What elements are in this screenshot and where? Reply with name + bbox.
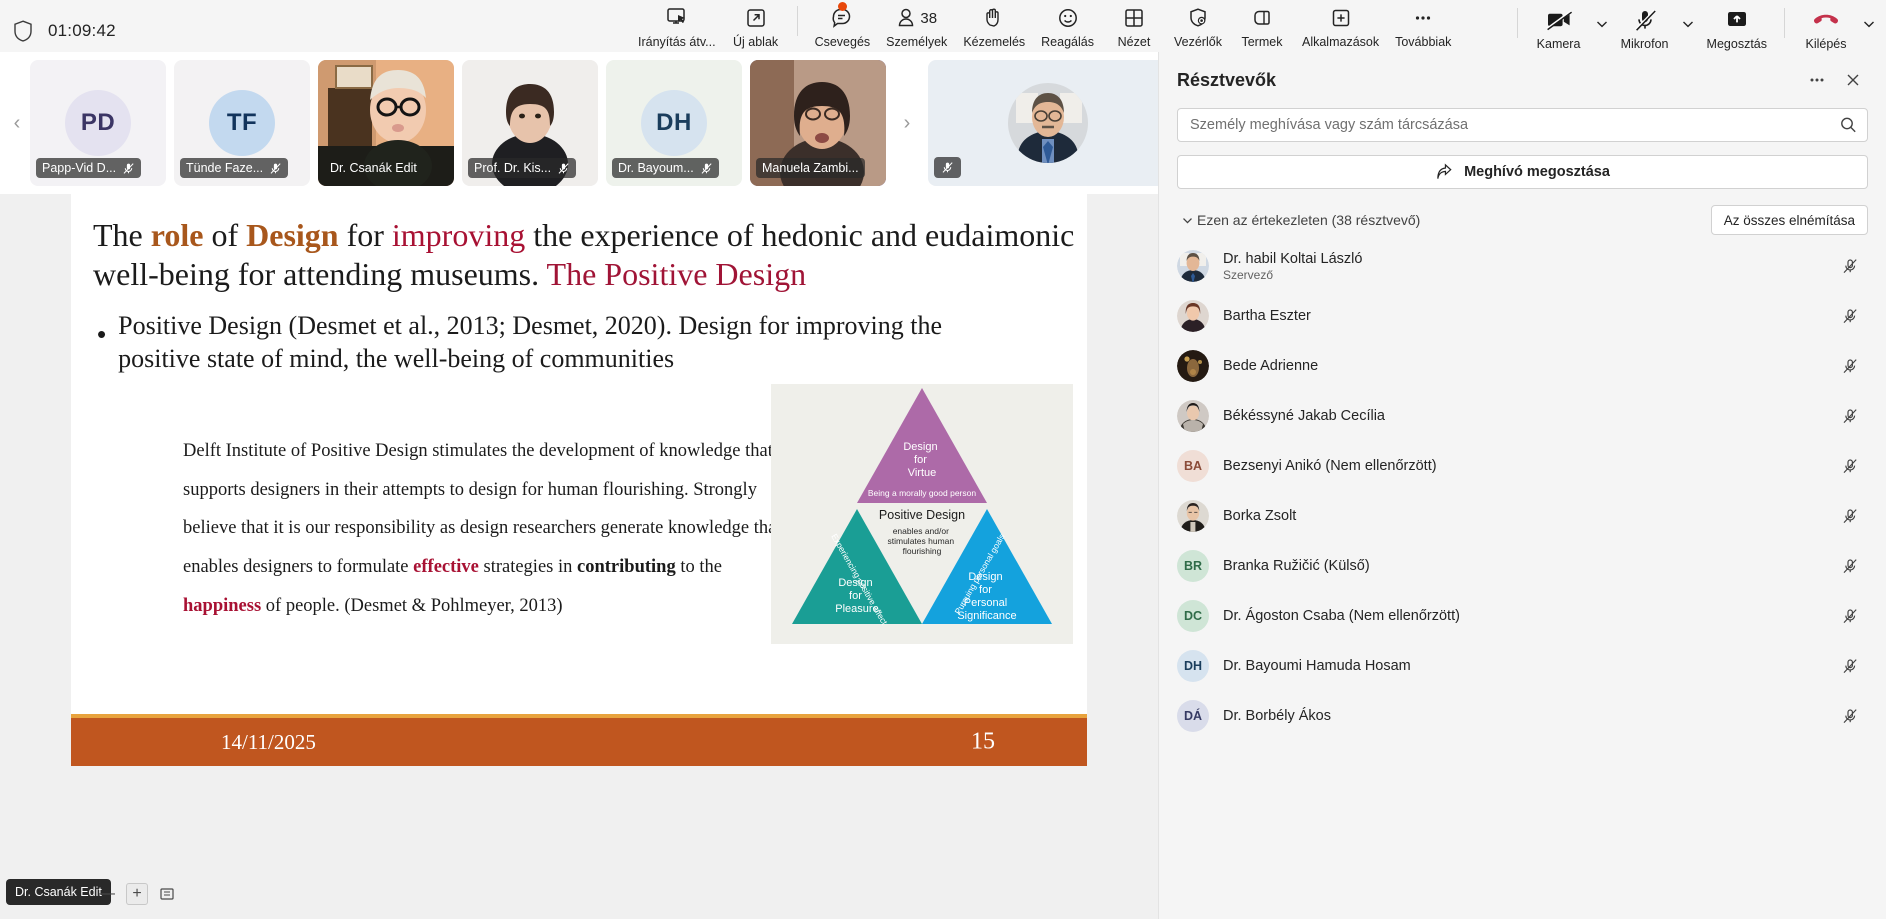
mic-off-icon[interactable]: [1836, 257, 1864, 275]
avatar-initials: DÁ: [1177, 700, 1209, 732]
toolbar-divider-1: [797, 6, 798, 36]
toolbar-controls-button[interactable]: Vezérlők: [1166, 0, 1230, 58]
mic-off-icon: [1632, 6, 1658, 34]
participant-info: Békéssyné Jakab Cecília: [1223, 408, 1385, 424]
toolbar-new-window-button[interactable]: Új ablak: [724, 0, 788, 58]
in-meeting-section-label: Ezen az értekezleten (38 résztvevő): [1197, 212, 1420, 228]
toolbar-view-label: Nézet: [1118, 35, 1151, 49]
participants-panel-body: Meghívó megosztása Ezen az értekezleten …: [1159, 108, 1886, 741]
participant-name: Branka Ružičić (Külső): [1223, 558, 1370, 574]
toolbar-camera-label: Kamera: [1537, 37, 1581, 51]
tile-name: Papp-Vid D...: [42, 161, 116, 175]
mic-off-icon: [557, 162, 570, 175]
video-tile[interactable]: TF Tünde Faze...: [174, 60, 310, 186]
para-part-contributing: contributing: [577, 557, 676, 577]
tile-name: Dr. Bayoum...: [618, 161, 694, 175]
toolbar-more-button[interactable]: Továbbiak: [1387, 0, 1459, 58]
slide-title: The role of Design for improving the exp…: [93, 216, 1077, 294]
more-ellipsis-icon[interactable]: [1802, 65, 1832, 95]
toolbar-raise-hand-button[interactable]: Kézemelés: [955, 0, 1033, 58]
slide-bullet-text: Positive Design (Desmet et al., 2013; De…: [118, 309, 1027, 375]
avatar-initials-text: BR: [1184, 559, 1202, 573]
tile-name-pill: Papp-Vid D...: [36, 158, 141, 178]
avatar-initials: PD: [81, 109, 115, 137]
new-window-icon: [743, 4, 769, 32]
meeting-timer: 01:09:42: [48, 21, 116, 41]
mic-off-icon[interactable]: [1836, 607, 1864, 625]
video-tile[interactable]: Prof. Dr. Kis...: [462, 60, 598, 186]
slide-zoom-controls: — +: [96, 883, 178, 905]
avatar: [1177, 350, 1209, 382]
toolbar-people-label: Személyek: [886, 35, 947, 49]
zoom-out-button[interactable]: —: [96, 883, 118, 905]
participant-info: Borka Zsolt: [1223, 508, 1296, 524]
participant-name: Dr. Bayoumi Hamuda Hosam: [1223, 658, 1411, 674]
toolbar-rooms-button[interactable]: Termek: [1230, 0, 1294, 58]
participant-name: Borka Zsolt: [1223, 508, 1296, 524]
toolbar-give-control-label: Irányítás átv...: [638, 35, 716, 49]
mic-off-icon[interactable]: [1836, 407, 1864, 425]
slide-footer-date: 14/11/2025: [221, 730, 316, 755]
avatar-initials-text: BA: [1184, 459, 1202, 473]
para-part-effective: effective: [413, 557, 479, 577]
hangup-options-chevron-down-icon[interactable]: [1858, 4, 1880, 44]
controls-shield-icon: [1185, 4, 1211, 32]
tile-name-pill: Manuela Zambi...: [756, 158, 865, 178]
title-part: The: [93, 217, 151, 253]
title-part: for: [339, 217, 392, 253]
participant-row[interactable]: Bede Adrienne: [1177, 341, 1868, 391]
invite-search-box[interactable]: [1177, 108, 1868, 142]
para-part: of people. (Desmet & Pohlmeyer, 2013): [261, 596, 562, 616]
participants-panel-header: Résztvevők: [1159, 52, 1886, 108]
participant-name: Dr. habil Koltai László: [1223, 251, 1362, 267]
participant-row[interactable]: Békéssyné Jakab Cecília: [1177, 391, 1868, 441]
toolbar-apps-label: Alkalmazások: [1302, 35, 1379, 49]
teams-meeting-window: 01:09:42 Irányítás átv... Új ablak: [0, 0, 1886, 919]
participants-panel-actions: [1802, 65, 1868, 95]
mute-all-button[interactable]: Az összes elnémítása: [1711, 205, 1868, 235]
video-tile[interactable]: DH Dr. Bayoum...: [606, 60, 742, 186]
share-invite-icon: [1435, 163, 1454, 182]
avatar-initials: BA: [1177, 450, 1209, 482]
avatar-initials: DH: [656, 109, 692, 137]
toolbar-microphone-label: Mikrofon: [1621, 37, 1669, 51]
title-part-improving: improving: [392, 217, 525, 253]
participant-name: Békéssyné Jakab Cecília: [1223, 408, 1385, 424]
video-tile[interactable]: PD Papp-Vid D...: [30, 60, 166, 186]
mic-options-chevron-down-icon[interactable]: [1677, 4, 1699, 44]
diagram-top-label-l1: Design: [903, 441, 937, 453]
share-invite-label: Meghívó megosztása: [1464, 164, 1610, 180]
filmstrip-tiles: PD Papp-Vid D... TF Tünde Faze...: [30, 60, 1168, 186]
tile-name-pill: Tünde Faze...: [180, 158, 288, 178]
toolbar-rooms-label: Termek: [1241, 35, 1282, 49]
tile-name-pill: Prof. Dr. Kis...: [468, 158, 576, 178]
mic-off-icon: [941, 161, 954, 174]
participant-row[interactable]: Borka Zsolt: [1177, 491, 1868, 541]
view-grid-icon: [1121, 4, 1147, 32]
participants-panel: Résztvevők Meghívó m: [1158, 52, 1886, 919]
camera-off-icon: [1544, 6, 1574, 34]
participant-row[interactable]: BR Branka Ružičić (Külső): [1177, 541, 1868, 591]
participant-row[interactable]: DÁ Dr. Borbély Ákos: [1177, 691, 1868, 741]
toolbar-apps-button[interactable]: Alkalmazások: [1294, 0, 1387, 58]
raise-hand-icon: [981, 4, 1007, 32]
avatar: TF: [209, 90, 275, 156]
give-control-icon: [664, 4, 690, 32]
para-part: strategies in: [479, 557, 577, 577]
toolbar-chat-label: Csevegés: [815, 35, 871, 49]
diagram-top-edge-label: Being a morally good person: [868, 488, 976, 498]
video-tile-active-speaker[interactable]: Manuela Zambi...: [750, 60, 886, 186]
participant-name: Bezsenyi Anikó (Nem ellenőrzött): [1223, 458, 1437, 474]
mic-off-icon: [269, 162, 282, 175]
avatar-photo: [1008, 83, 1088, 163]
participant-row[interactable]: DH Dr. Bayoumi Hamuda Hosam: [1177, 641, 1868, 691]
tile-name: Dr. Csanák Edit: [330, 161, 417, 175]
shield-icon: [12, 19, 34, 43]
toolbar-new-window-label: Új ablak: [733, 35, 778, 49]
shared-content-stage: The role of Design for improving the exp…: [0, 194, 1158, 919]
close-icon[interactable]: [1838, 65, 1868, 95]
tile-mic-off-badge: [934, 157, 961, 178]
title-part-role: role: [151, 217, 204, 253]
toolbar-left-group: 01:09:42: [0, 19, 630, 43]
avatar: [1177, 250, 1209, 282]
para-part-happiness: happiness: [183, 596, 261, 616]
mic-off-icon[interactable]: [1836, 657, 1864, 675]
positive-design-diagram: Design for Virtue Being a morally good p…: [771, 384, 1073, 644]
avatar-initials-text: DC: [1184, 609, 1202, 623]
title-part-positive-design: The Positive Design: [547, 256, 807, 292]
participant-row[interactable]: BA Bezsenyi Anikó (Nem ellenőrzött): [1177, 441, 1868, 491]
hang-up-icon: [1811, 6, 1841, 34]
filmstrip-next-button[interactable]: ›: [894, 63, 920, 183]
apps-plus-icon: [1328, 4, 1354, 32]
mic-off-icon[interactable]: [1836, 557, 1864, 575]
toolbar-reactions-label: Reagálás: [1041, 35, 1094, 49]
participant-row[interactable]: Dr. habil Koltai László Szervező: [1177, 241, 1868, 291]
filmstrip-prev-button[interactable]: ‹: [4, 63, 30, 183]
participant-info: Dr. Ágoston Csaba (Nem ellenőrzött): [1223, 608, 1460, 624]
avatar: [1177, 500, 1209, 532]
in-meeting-section-header: Ezen az értekezleten (38 résztvevő) Az ö…: [1177, 205, 1868, 235]
mic-off-icon[interactable]: [1836, 307, 1864, 325]
avatar-initials: DC: [1177, 600, 1209, 632]
participant-info: Dr. habil Koltai László Szervező: [1223, 251, 1362, 282]
diagram-center-title: Positive Design: [879, 508, 965, 522]
video-tile[interactable]: [928, 60, 1168, 186]
participant-name: Bede Adrienne: [1223, 358, 1318, 374]
bullet-icon: •: [97, 321, 106, 375]
toolbar-divider-2: [1517, 8, 1518, 38]
slide-page-number: 15: [971, 729, 995, 756]
avatar: [1177, 300, 1209, 332]
toolbar-share-label: Megosztás: [1707, 37, 1767, 51]
participant-name: Bartha Eszter: [1223, 308, 1311, 324]
presenter-name: Dr. Csanák Edit: [15, 885, 102, 899]
share-screen-icon: [1723, 6, 1751, 34]
search-input[interactable]: [1190, 117, 1831, 133]
para-part: to the: [676, 557, 722, 577]
mic-off-icon[interactable]: [1836, 707, 1864, 725]
avatar: PD: [65, 90, 131, 156]
mic-off-icon: [700, 162, 713, 175]
participant-role: Szervező: [1223, 268, 1362, 282]
toolbar-controls-label: Vezérlők: [1174, 35, 1222, 49]
tile-name: Prof. Dr. Kis...: [474, 161, 551, 175]
toolbar-view-button[interactable]: Nézet: [1102, 0, 1166, 58]
slide-body-paragraph: Delft Institute of Positive Design stimu…: [183, 432, 783, 625]
participant-name: Dr. Borbély Ákos: [1223, 708, 1331, 724]
mic-off-icon: [122, 162, 135, 175]
tile-name: Tünde Faze...: [186, 161, 263, 175]
zoom-in-button[interactable]: +: [126, 883, 148, 905]
participant-info: Branka Ružičić (Külső): [1223, 558, 1370, 574]
reactions-icon: [1055, 4, 1081, 32]
title-part-design: Design: [246, 217, 338, 253]
mic-off-icon[interactable]: [1836, 457, 1864, 475]
participant-row[interactable]: Bartha Eszter: [1177, 291, 1868, 341]
participant-info: Bede Adrienne: [1223, 358, 1318, 374]
tile-name: Manuela Zambi...: [762, 161, 859, 175]
more-ellipsis-icon: [1410, 4, 1436, 32]
avatar-initials: BR: [1177, 550, 1209, 582]
fit-to-screen-icon[interactable]: [156, 883, 178, 905]
tile-name-pill: Dr. Csanák Edit: [324, 158, 423, 178]
avatar: DH: [641, 90, 707, 156]
participant-filmstrip: ‹ PD Papp-Vid D... TF Tünde Faze..: [0, 52, 1158, 194]
toolbar-chat-button[interactable]: Csevegés: [807, 0, 879, 58]
participant-info: Bezsenyi Anikó (Nem ellenőrzött): [1223, 458, 1437, 474]
toolbar-divider-3: [1784, 8, 1785, 38]
slide-bullet-item: • Positive Design (Desmet et al., 2013; …: [97, 309, 1027, 375]
toolbar-more-label: Továbbiak: [1395, 35, 1451, 49]
search-icon[interactable]: [1840, 117, 1857, 134]
toolbar-hangup-label: Kilépés: [1806, 37, 1847, 51]
chat-icon: [829, 4, 855, 32]
people-count: 38: [920, 10, 937, 27]
avatar-initials: TF: [227, 109, 257, 137]
breakout-rooms-icon: [1249, 4, 1275, 32]
presentation-slide[interactable]: The role of Design for improving the exp…: [71, 194, 1087, 766]
toolbar-reactions-button[interactable]: Reagálás: [1033, 0, 1102, 58]
mic-off-icon[interactable]: [1836, 357, 1864, 375]
people-icon: 38: [896, 4, 937, 32]
participant-info: Dr. Bayoumi Hamuda Hosam: [1223, 658, 1411, 674]
participant-info: Dr. Borbély Ákos: [1223, 708, 1331, 724]
participants-panel-title: Résztvevők: [1177, 70, 1276, 91]
tile-name-pill: Dr. Bayoum...: [612, 158, 719, 178]
slide-footer: 14/11/2025 15: [71, 714, 1087, 766]
avatar-initials: DH: [1177, 650, 1209, 682]
toolbar-give-control-button[interactable]: Irányítás átv...: [630, 0, 724, 58]
avatar-initials-text: DÁ: [1184, 709, 1202, 723]
camera-options-chevron-down-icon[interactable]: [1591, 4, 1613, 44]
video-tile[interactable]: Dr. Csanák Edit: [318, 60, 454, 186]
avatar-initials-text: DH: [1184, 659, 1202, 673]
share-invite-button[interactable]: Meghívó megosztása: [1177, 155, 1868, 189]
participant-name: Dr. Ágoston Csaba (Nem ellenőrzött): [1223, 608, 1460, 624]
toolbar-people-button[interactable]: 38 Személyek: [878, 0, 955, 58]
participants-list: Dr. habil Koltai László Szervező Bartha …: [1177, 241, 1868, 741]
title-part: of: [203, 217, 246, 253]
toolbar-raise-hand-label: Kézemelés: [963, 35, 1025, 49]
participant-row[interactable]: DC Dr. Ágoston Csaba (Nem ellenőrzött): [1177, 591, 1868, 641]
avatar: [1177, 400, 1209, 432]
participant-info: Bartha Eszter: [1223, 308, 1311, 324]
chevron-down-icon[interactable]: [1177, 214, 1197, 227]
mic-off-icon[interactable]: [1836, 507, 1864, 525]
